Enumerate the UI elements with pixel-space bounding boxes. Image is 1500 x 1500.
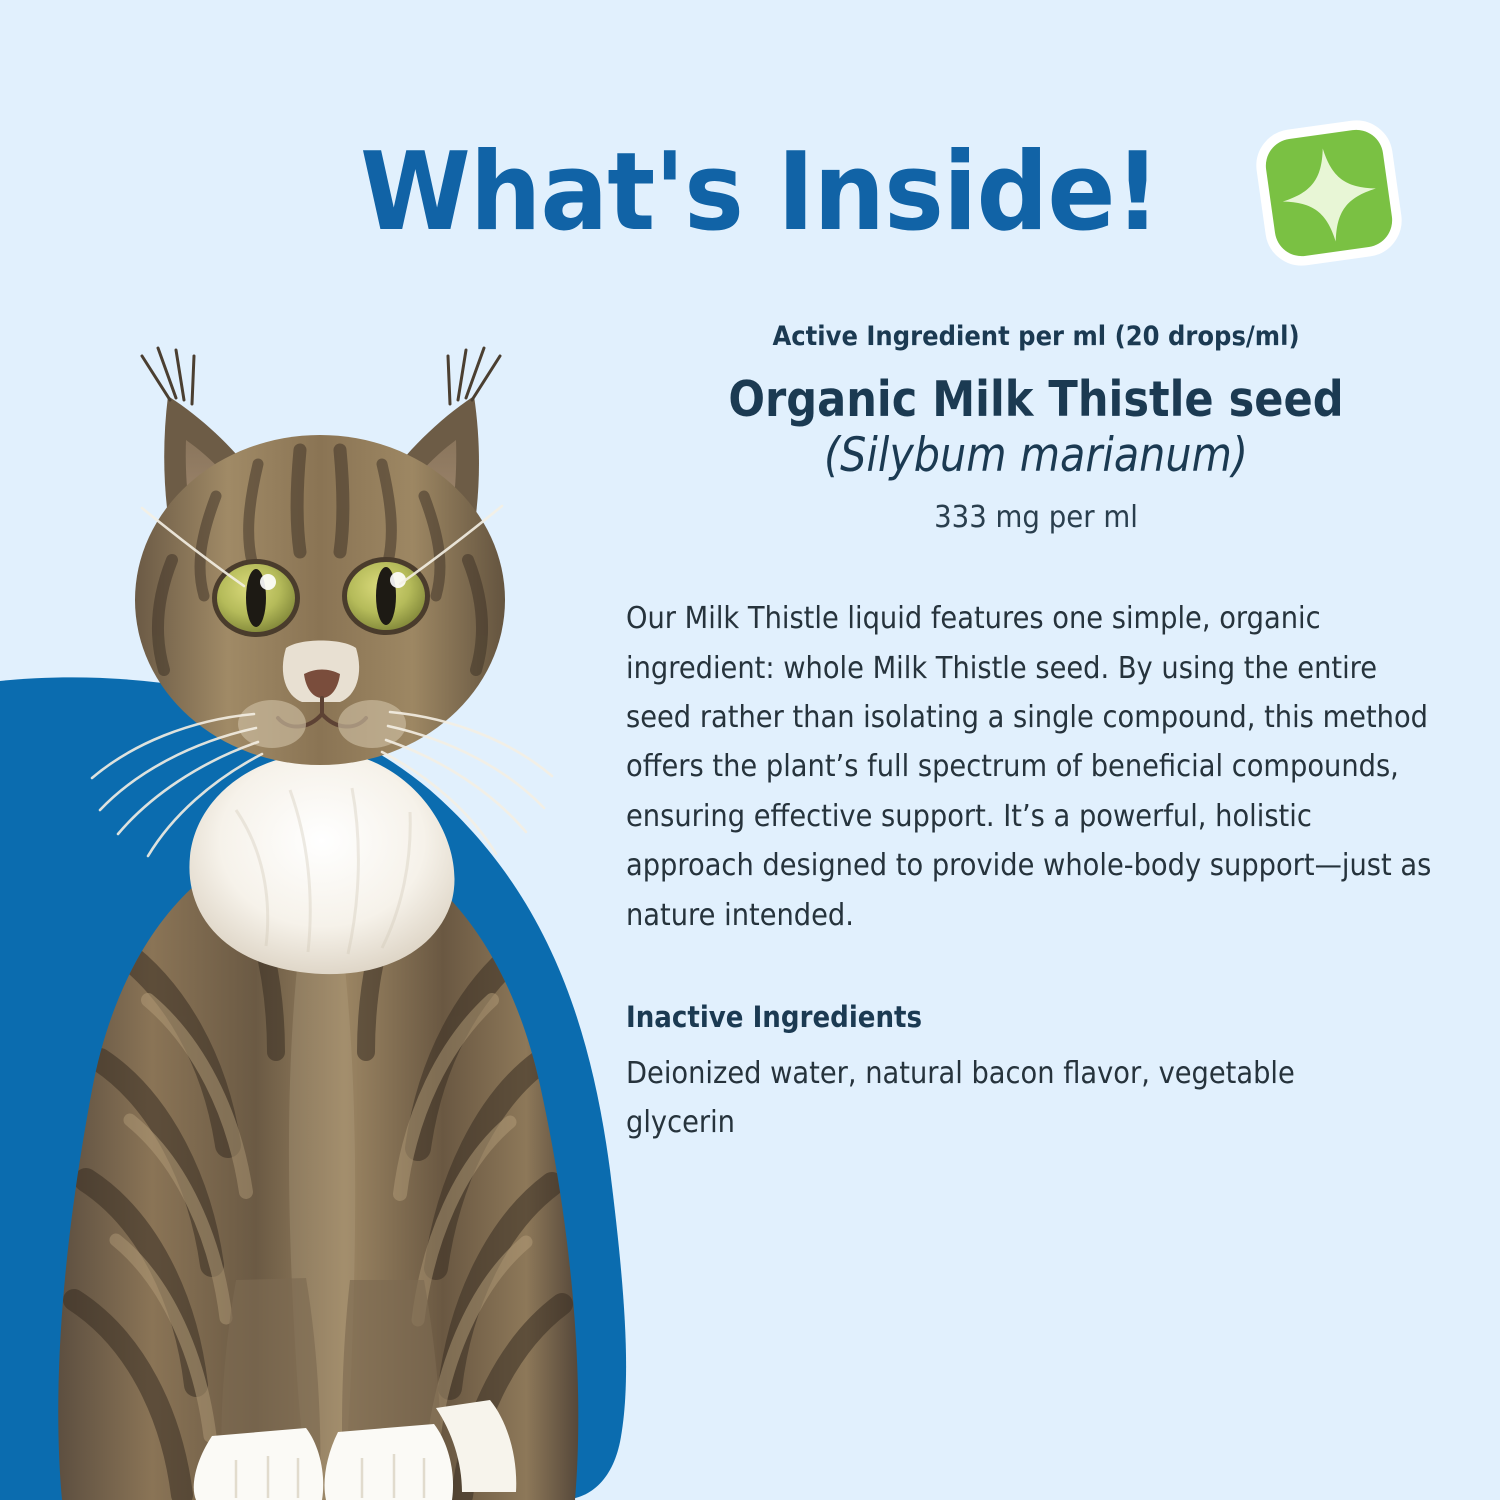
inactive-ingredients-list: Deionized water, natural bacon flavor, v… [626, 1049, 1306, 1148]
product-infographic: What's Inside! Active Ingredient per ml … [0, 0, 1500, 1500]
cat-paws [194, 1400, 517, 1500]
active-ingredient-name: Organic Milk Thistle seed [675, 374, 1397, 427]
cat-photo [0, 300, 640, 1500]
active-ingredient-latin-name: (Silybum marianum) [675, 429, 1397, 483]
sparkle-badge [1254, 118, 1404, 268]
header: What's Inside! [360, 108, 1370, 278]
sparkle-star-icon [1254, 118, 1404, 268]
ingredient-panel: Active Ingredient per ml (20 drops/ml) O… [626, 322, 1446, 1148]
active-ingredient-dosage: 333 mg per ml [659, 500, 1413, 536]
page-title: What's Inside! [360, 139, 1159, 247]
cat-ears [142, 348, 500, 618]
inactive-ingredients-heading: Inactive Ingredients [626, 1000, 1364, 1035]
cat-eyes [212, 557, 430, 637]
active-ingredient-label: Active Ingredient per ml (20 drops/ml) [667, 322, 1405, 352]
product-description: Our Milk Thistle liquid features one sim… [626, 594, 1436, 940]
